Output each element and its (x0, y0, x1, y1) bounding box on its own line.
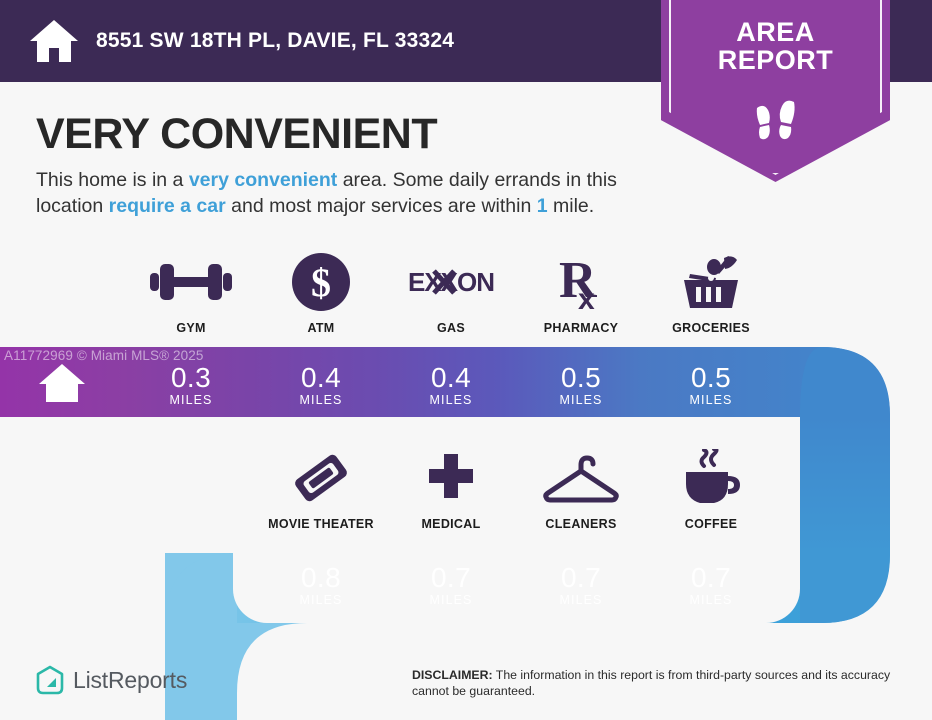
amenity-label: GAS (437, 321, 465, 335)
cross-icon (425, 448, 477, 508)
dollar-coin-icon: $ (292, 252, 350, 312)
amenity-cleaners: CLEANERS (516, 448, 646, 531)
amenity-groceries: GROCERIES (646, 252, 776, 335)
badge-line-1: AREA (661, 18, 890, 46)
svg-text:$: $ (311, 260, 331, 305)
page-title: VERY CONVENIENT (36, 110, 437, 159)
distance-unit: MILES (256, 393, 386, 407)
distance-cell: 0.4 MILES (386, 356, 516, 407)
distance-unit: MILES (256, 593, 386, 607)
listreports-logo-text: ListReports (73, 667, 187, 694)
distance-cell: 0.7 MILES (516, 556, 646, 607)
amenity-label: COFFEE (685, 517, 738, 531)
distance-unit: MILES (516, 593, 646, 607)
amenity-label: MOVIE THEATER (268, 517, 374, 531)
amenity-movie-theater: MOVIE THEATER (256, 448, 386, 531)
amenity-medical: MEDICAL (386, 448, 516, 531)
disclaimer-label: DISCLAIMER: (412, 668, 493, 682)
distance-cell: 0.5 MILES (516, 356, 646, 407)
amenity-label: GROCERIES (672, 321, 750, 335)
amenity-coffee: COFFEE (646, 448, 776, 531)
distance-unit: MILES (386, 593, 516, 607)
distance-value: 0.3 (126, 363, 256, 392)
summary-part-4: mile. (548, 195, 595, 217)
distance-unit: MILES (126, 393, 256, 407)
coffee-icon (680, 448, 742, 508)
summary-part-3: and most major services are within (226, 195, 537, 217)
distance-unit: MILES (646, 593, 776, 607)
distance-value: 0.4 (386, 363, 516, 392)
summary-part-1: This home is in a (36, 169, 189, 191)
home-icon (28, 17, 80, 65)
distance-cell: 0.7 MILES (646, 556, 776, 607)
area-report-badge: AREA REPORT (661, 0, 890, 182)
distance-value: 0.7 (516, 563, 646, 592)
ticket-icon (290, 448, 352, 508)
amenity-gym: GYM (126, 252, 256, 335)
svg-text:x: x (578, 283, 595, 311)
amenity-icon-row-1: GYM $ ATM EXXON GAS R (126, 252, 776, 335)
distance-cell: 0.3 MILES (126, 356, 256, 407)
distance-row-1: 0.3 MILES 0.4 MILES 0.4 MILES 0.5 MILES … (126, 356, 776, 407)
distance-value: 0.7 (646, 563, 776, 592)
amenity-label: MEDICAL (421, 517, 480, 531)
amenity-label: ATM (307, 321, 334, 335)
distance-unit: MILES (386, 393, 516, 407)
distance-unit: MILES (646, 393, 776, 407)
basket-icon (680, 252, 742, 312)
listreports-house-tag-icon (36, 665, 64, 695)
amenity-label: CLEANERS (545, 517, 616, 531)
area-report-infographic: 8551 SW 18TH PL, DAVIE, FL 33324 AREA RE… (0, 0, 932, 720)
summary-highlight-1: very convenient (189, 169, 337, 191)
distance-cell: 0.7 MILES (386, 556, 516, 607)
distance-cell: 0.5 MILES (646, 356, 776, 407)
home-marker-icon (38, 362, 86, 409)
amenity-label: PHARMACY (544, 321, 619, 335)
amenity-pharmacy: R x PHARMACY (516, 252, 646, 335)
hanger-icon (543, 448, 619, 508)
summary-highlight-2: require a car (109, 195, 226, 217)
property-address: 8551 SW 18TH PL, DAVIE, FL 33324 (96, 29, 454, 53)
amenity-gas: EXXON GAS (386, 252, 516, 335)
amenity-atm: $ ATM (256, 252, 386, 335)
exxon-logo-icon: EXXON (406, 252, 496, 312)
distance-unit: MILES (516, 393, 646, 407)
distance-value: 0.4 (256, 363, 386, 392)
distance-value: 0.8 (256, 563, 386, 592)
amenity-label: GYM (176, 321, 205, 335)
amenity-icon-row-2: MOVIE THEATER MEDICAL CLEANERS (256, 448, 776, 531)
summary-text: This home is in a very convenient area. … (36, 168, 661, 220)
footprints-icon (661, 96, 890, 153)
distance-value: 0.7 (386, 563, 516, 592)
badge-text: AREA REPORT (661, 18, 890, 75)
distance-value: 0.5 (516, 363, 646, 392)
badge-line-2: REPORT (661, 46, 890, 74)
distance-cell: 0.4 MILES (256, 356, 386, 407)
distance-row-2: 0.8 MILES 0.7 MILES 0.7 MILES 0.7 MILES (256, 556, 776, 607)
rx-icon: R x (557, 252, 605, 312)
disclaimer: DISCLAIMER: The information in this repo… (412, 668, 892, 700)
distance-cell: 0.8 MILES (256, 556, 386, 607)
summary-highlight-3: 1 (537, 195, 548, 217)
listreports-logo: ListReports (36, 665, 187, 695)
distance-value: 0.5 (646, 363, 776, 392)
dumbbell-icon (150, 252, 232, 312)
